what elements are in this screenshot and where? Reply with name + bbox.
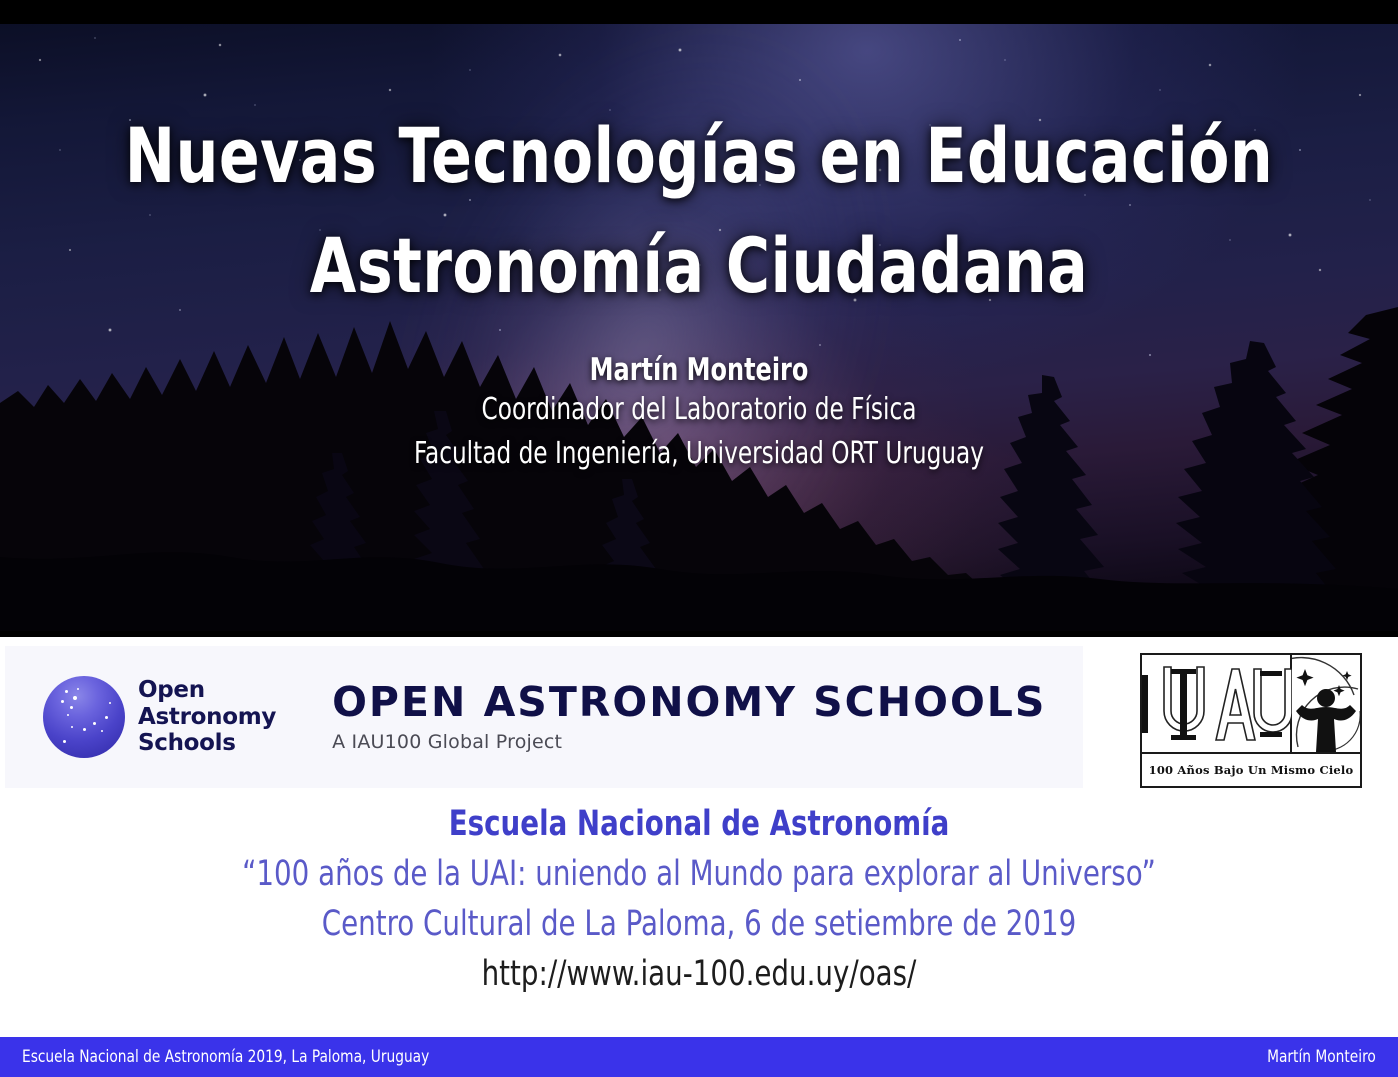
letterbox-top-bar [0, 0, 1398, 24]
footer-event-label: Escuela Nacional de Astronomía 2019, La … [22, 1047, 429, 1067]
footer-author-label: Martín Monteiro [1267, 1047, 1376, 1067]
night-sky-hero-image: Nuevas Tecnologías en Educación Astronom… [0, 0, 1398, 637]
author-role: Coordinador del Laboratorio de Física [98, 388, 1300, 432]
letterbox-bottom-bar [0, 631, 1398, 637]
slide-title-block: Nuevas Tecnologías en Educación Astronom… [0, 118, 1398, 304]
event-url[interactable]: http://www.iau-100.edu.uy/oas/ [84, 956, 1314, 993]
presentation-slide: Nuevas Tecnologías en Educación Astronom… [0, 0, 1398, 1077]
event-heading: Escuela Nacional de Astronomía [84, 806, 1314, 843]
iau100-logo-upper [1142, 655, 1360, 754]
event-theme-quote: “100 años de la UAI: uniendo al Mundo pa… [84, 856, 1314, 893]
oas-tagline: A IAU100 Global Project [332, 731, 1046, 753]
event-venue-and-date: Centro Cultural de La Paloma, 6 de setie… [84, 906, 1314, 943]
slide-footer-bar: Escuela Nacional de Astronomía 2019, La … [0, 1037, 1398, 1077]
slide-title-line-1: Nuevas Tecnologías en Educación [84, 118, 1314, 194]
oas-name-line-3: Schools [138, 730, 276, 757]
event-info-block: Escuela Nacional de Astronomía “100 años… [0, 806, 1398, 993]
oas-name-line-1: Open [138, 677, 276, 704]
iau100-caption: 100 Años Bajo Un Mismo Cielo [1142, 754, 1360, 786]
oas-name-line-2: Astronomy [138, 704, 276, 731]
author-block: Martín Monteiro Coordinador del Laborato… [0, 352, 1398, 477]
iau-letters-icon [1142, 655, 1292, 752]
oas-wordmark: OPEN ASTRONOMY SCHOOLS [332, 681, 1046, 724]
author-affiliation: Facultad de Ingeniería, Universidad ORT … [98, 432, 1300, 476]
author-name: Martín Monteiro [98, 352, 1300, 388]
slide-title-line-2: Astronomía Ciudadana [84, 228, 1314, 304]
iau100-logo: 100 Años Bajo Un Mismo Cielo [1140, 653, 1362, 788]
iau-person-and-stars-icon [1292, 655, 1360, 752]
oas-globe-icon [43, 676, 125, 758]
open-astronomy-schools-logo-panel: Open Astronomy Schools OPEN ASTRONOMY SC… [5, 646, 1083, 788]
oas-wordmark-group: OPEN ASTRONOMY SCHOOLS A IAU100 Global P… [332, 681, 1046, 752]
oas-logo-name: Open Astronomy Schools [138, 677, 276, 758]
oas-lockup: Open Astronomy Schools [43, 676, 276, 758]
